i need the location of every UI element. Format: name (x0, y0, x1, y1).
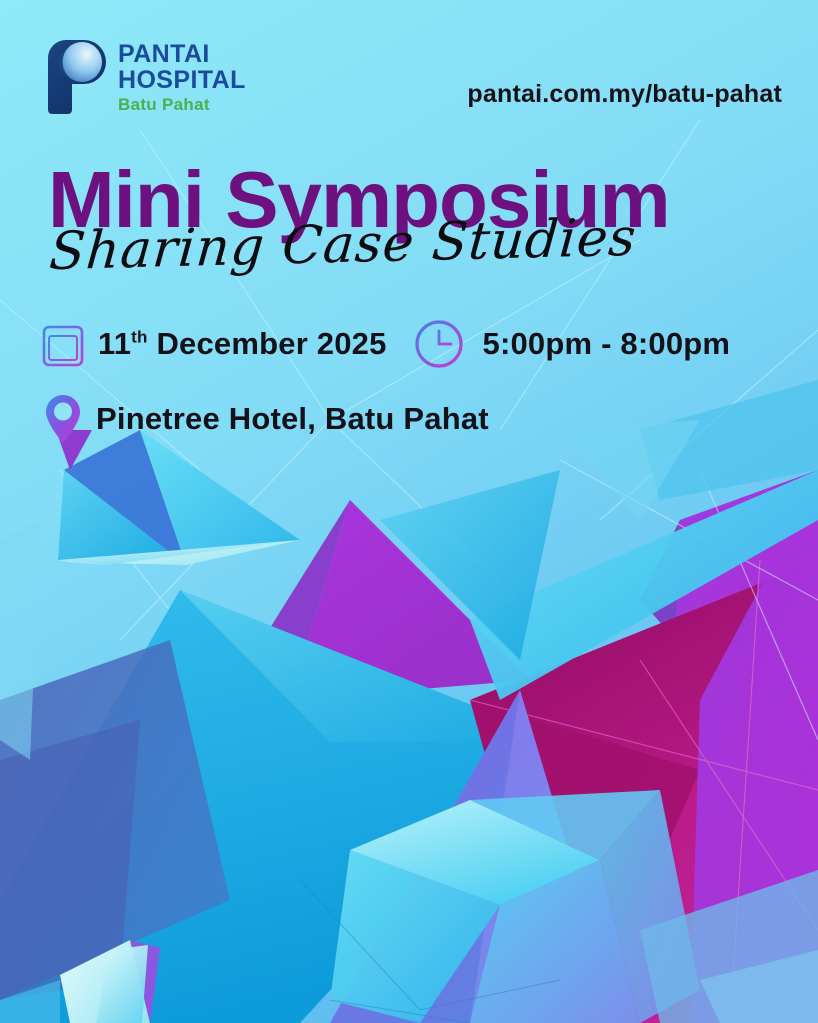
pantai-hospital-logo: PANTAI HOSPITAL Batu Pahat (44, 40, 246, 114)
event-venue: Pinetree Hotel, Batu Pahat (96, 401, 489, 437)
pantai-hospital-p-mark (44, 40, 106, 114)
location-pin-icon (42, 392, 84, 446)
event-date-ordinal: th (131, 328, 147, 347)
website-url[interactable]: pantai.com.my/batu-pahat (467, 80, 782, 109)
event-poster: PANTAI HOSPITAL Batu Pahat pantai.com.my… (0, 0, 818, 1023)
date-time-row: 11th December 2025 5:00pm - 8:00pm (40, 318, 730, 370)
logo-sub-batu-pahat: Batu Pahat (118, 96, 246, 113)
logo-line-pantai: PANTAI (118, 42, 246, 67)
event-date-rest: December 2025 (148, 326, 387, 361)
calendar-icon (40, 319, 86, 369)
venue-row: Pinetree Hotel, Batu Pahat (42, 392, 489, 446)
logo-line-hospital: HOSPITAL (118, 68, 246, 93)
event-date: 11th December 2025 (98, 326, 387, 362)
event-time: 5:00pm - 8:00pm (483, 326, 731, 362)
clock-icon (413, 318, 465, 370)
background-polygon-art (0, 0, 818, 1023)
event-date-day: 11 (98, 326, 131, 361)
logo-wordmark: PANTAI HOSPITAL Batu Pahat (118, 42, 246, 113)
